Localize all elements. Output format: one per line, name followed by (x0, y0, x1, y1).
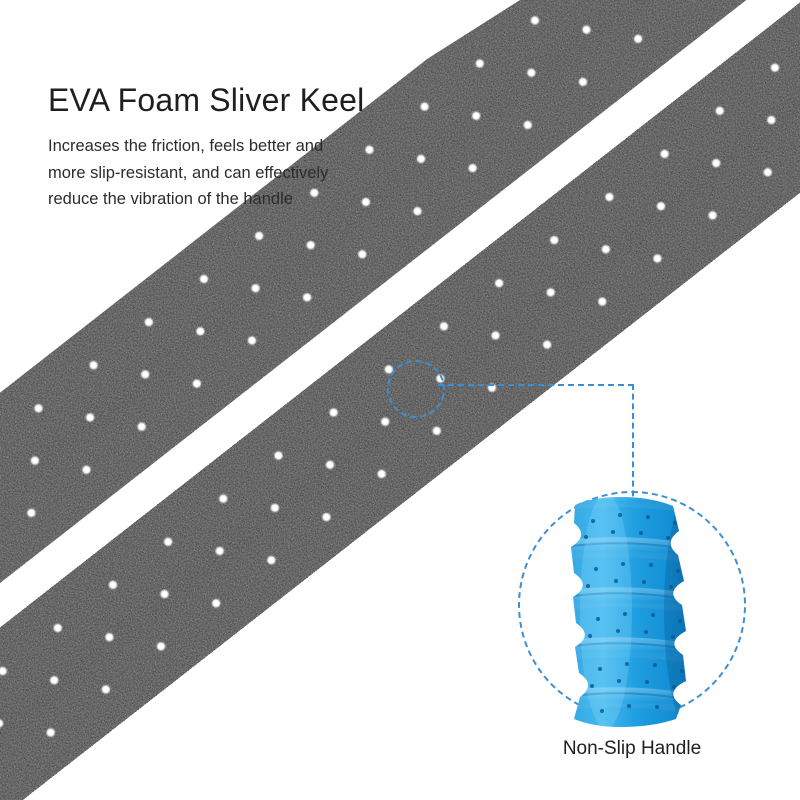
feature-text-block: EVA Foam Sliver Keel Increases the frict… (48, 82, 468, 213)
product-feature-image: EVA Foam Sliver Keel Increases the frict… (0, 0, 800, 800)
description-line-3: reduce the vibration of the handle (48, 190, 293, 208)
callout-label: Non-Slip Handle (518, 738, 746, 760)
dashed-circle-small (387, 360, 445, 418)
description-line-1: Increases the friction, feels better and (48, 137, 323, 155)
dashed-circle-large (518, 491, 746, 719)
description-line-2: more slip-resistant, and can effectively (48, 164, 328, 182)
dashed-connector-line-vertical (632, 384, 634, 506)
dashed-connector-line-horizontal (438, 384, 634, 386)
feature-description: Increases the friction, feels better and… (48, 133, 408, 213)
page-title: EVA Foam Sliver Keel (48, 82, 468, 119)
